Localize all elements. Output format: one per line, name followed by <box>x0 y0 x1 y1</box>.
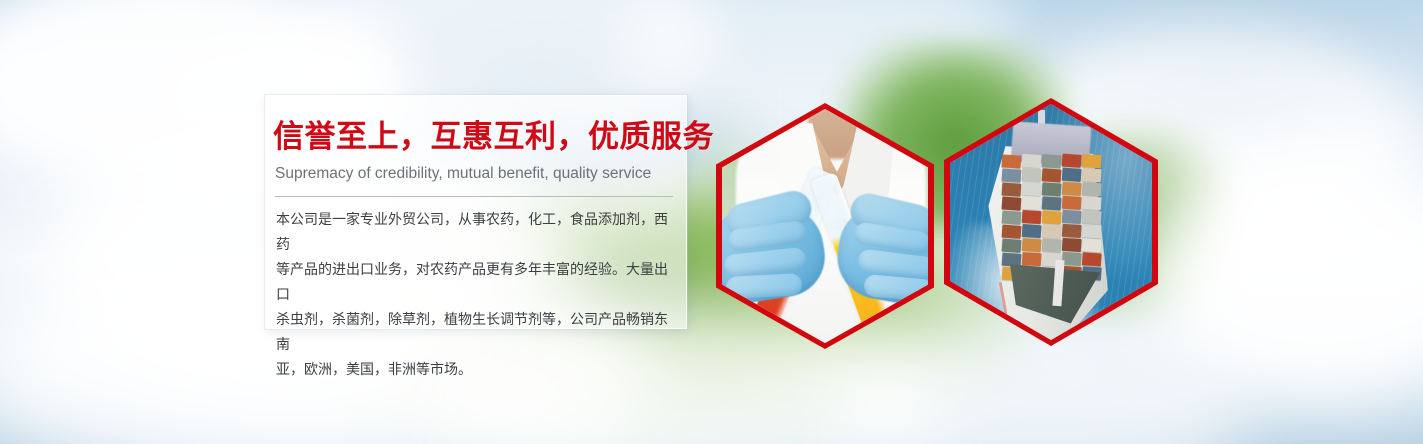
shipping-container <box>1002 168 1022 182</box>
shipping-container <box>1082 168 1102 182</box>
shipping-container <box>1062 210 1082 224</box>
company-description: 本公司是一家专业外贸公司，从事农药，化工，食品添加剂，西药 等产品的进出口业务，… <box>276 208 676 383</box>
description-line: 本公司是一家专业外贸公司，从事农药，化工，食品添加剂，西药 <box>276 208 676 258</box>
page-title: 信誉至上，互惠互利，优质服务 <box>273 122 678 153</box>
shipping-container <box>1022 154 1042 168</box>
shipping-container <box>1022 224 1042 238</box>
shipping-container <box>1062 224 1082 238</box>
shipping-container <box>1022 238 1042 252</box>
glove-finger <box>725 273 802 299</box>
shipping-container <box>1042 154 1062 168</box>
shipping-container <box>1082 224 1102 238</box>
cargo-ship-photo <box>950 104 1152 340</box>
shipping-container <box>1082 210 1102 224</box>
shipping-container <box>1022 196 1042 210</box>
shipping-container <box>1062 238 1082 252</box>
shipping-container <box>1002 196 1022 210</box>
shipping-container <box>1002 239 1022 253</box>
shipping-container <box>1002 211 1022 225</box>
shipping-container <box>1082 196 1102 210</box>
shipping-container <box>1002 182 1022 196</box>
shipping-container <box>1042 224 1062 238</box>
shipping-container <box>1062 168 1082 182</box>
text-panel: 信誉至上，互惠互利，优质服务 Supremacy of credibility,… <box>265 95 687 329</box>
page-subtitle: Supremacy of credibility, mutual benefit… <box>275 166 680 182</box>
hexagon-inner-laboratory <box>722 109 928 343</box>
shipping-container <box>1022 182 1042 196</box>
title-divider <box>275 196 673 197</box>
shipping-container <box>1022 252 1042 266</box>
shipping-container <box>1062 182 1082 196</box>
shipping-container <box>1042 168 1062 182</box>
shipping-container <box>1082 252 1102 266</box>
shipping-container <box>1042 196 1062 210</box>
laboratory-photo <box>722 109 928 343</box>
description-line: 杀虫剂，杀菌剂，除草剂，植物生长调节剂等，公司产品畅销东南 <box>276 308 676 358</box>
shipping-container <box>1001 154 1021 168</box>
hexagon-inner-cargo-ship <box>950 104 1152 340</box>
promo-banner: 信誉至上，互惠互利，优质服务 Supremacy of credibility,… <box>0 0 1423 444</box>
shipping-container <box>1002 225 1022 239</box>
shipping-container <box>1062 252 1082 266</box>
shipping-container <box>1082 154 1102 168</box>
description-line: 亚，欧洲，美国，非洲等市场。 <box>276 358 676 383</box>
description-line: 等产品的进出口业务，对农药产品更有多年丰富的经验。大量出口 <box>276 258 676 308</box>
shipping-container <box>1042 238 1062 252</box>
shipping-container <box>1042 210 1062 224</box>
shipping-container <box>1022 210 1042 224</box>
shipping-container <box>1022 168 1042 182</box>
shipping-container <box>1082 182 1102 196</box>
shipping-container <box>1062 196 1082 210</box>
shipping-container <box>1042 182 1062 196</box>
shipping-container <box>1062 154 1082 168</box>
shipping-container <box>1082 238 1102 252</box>
